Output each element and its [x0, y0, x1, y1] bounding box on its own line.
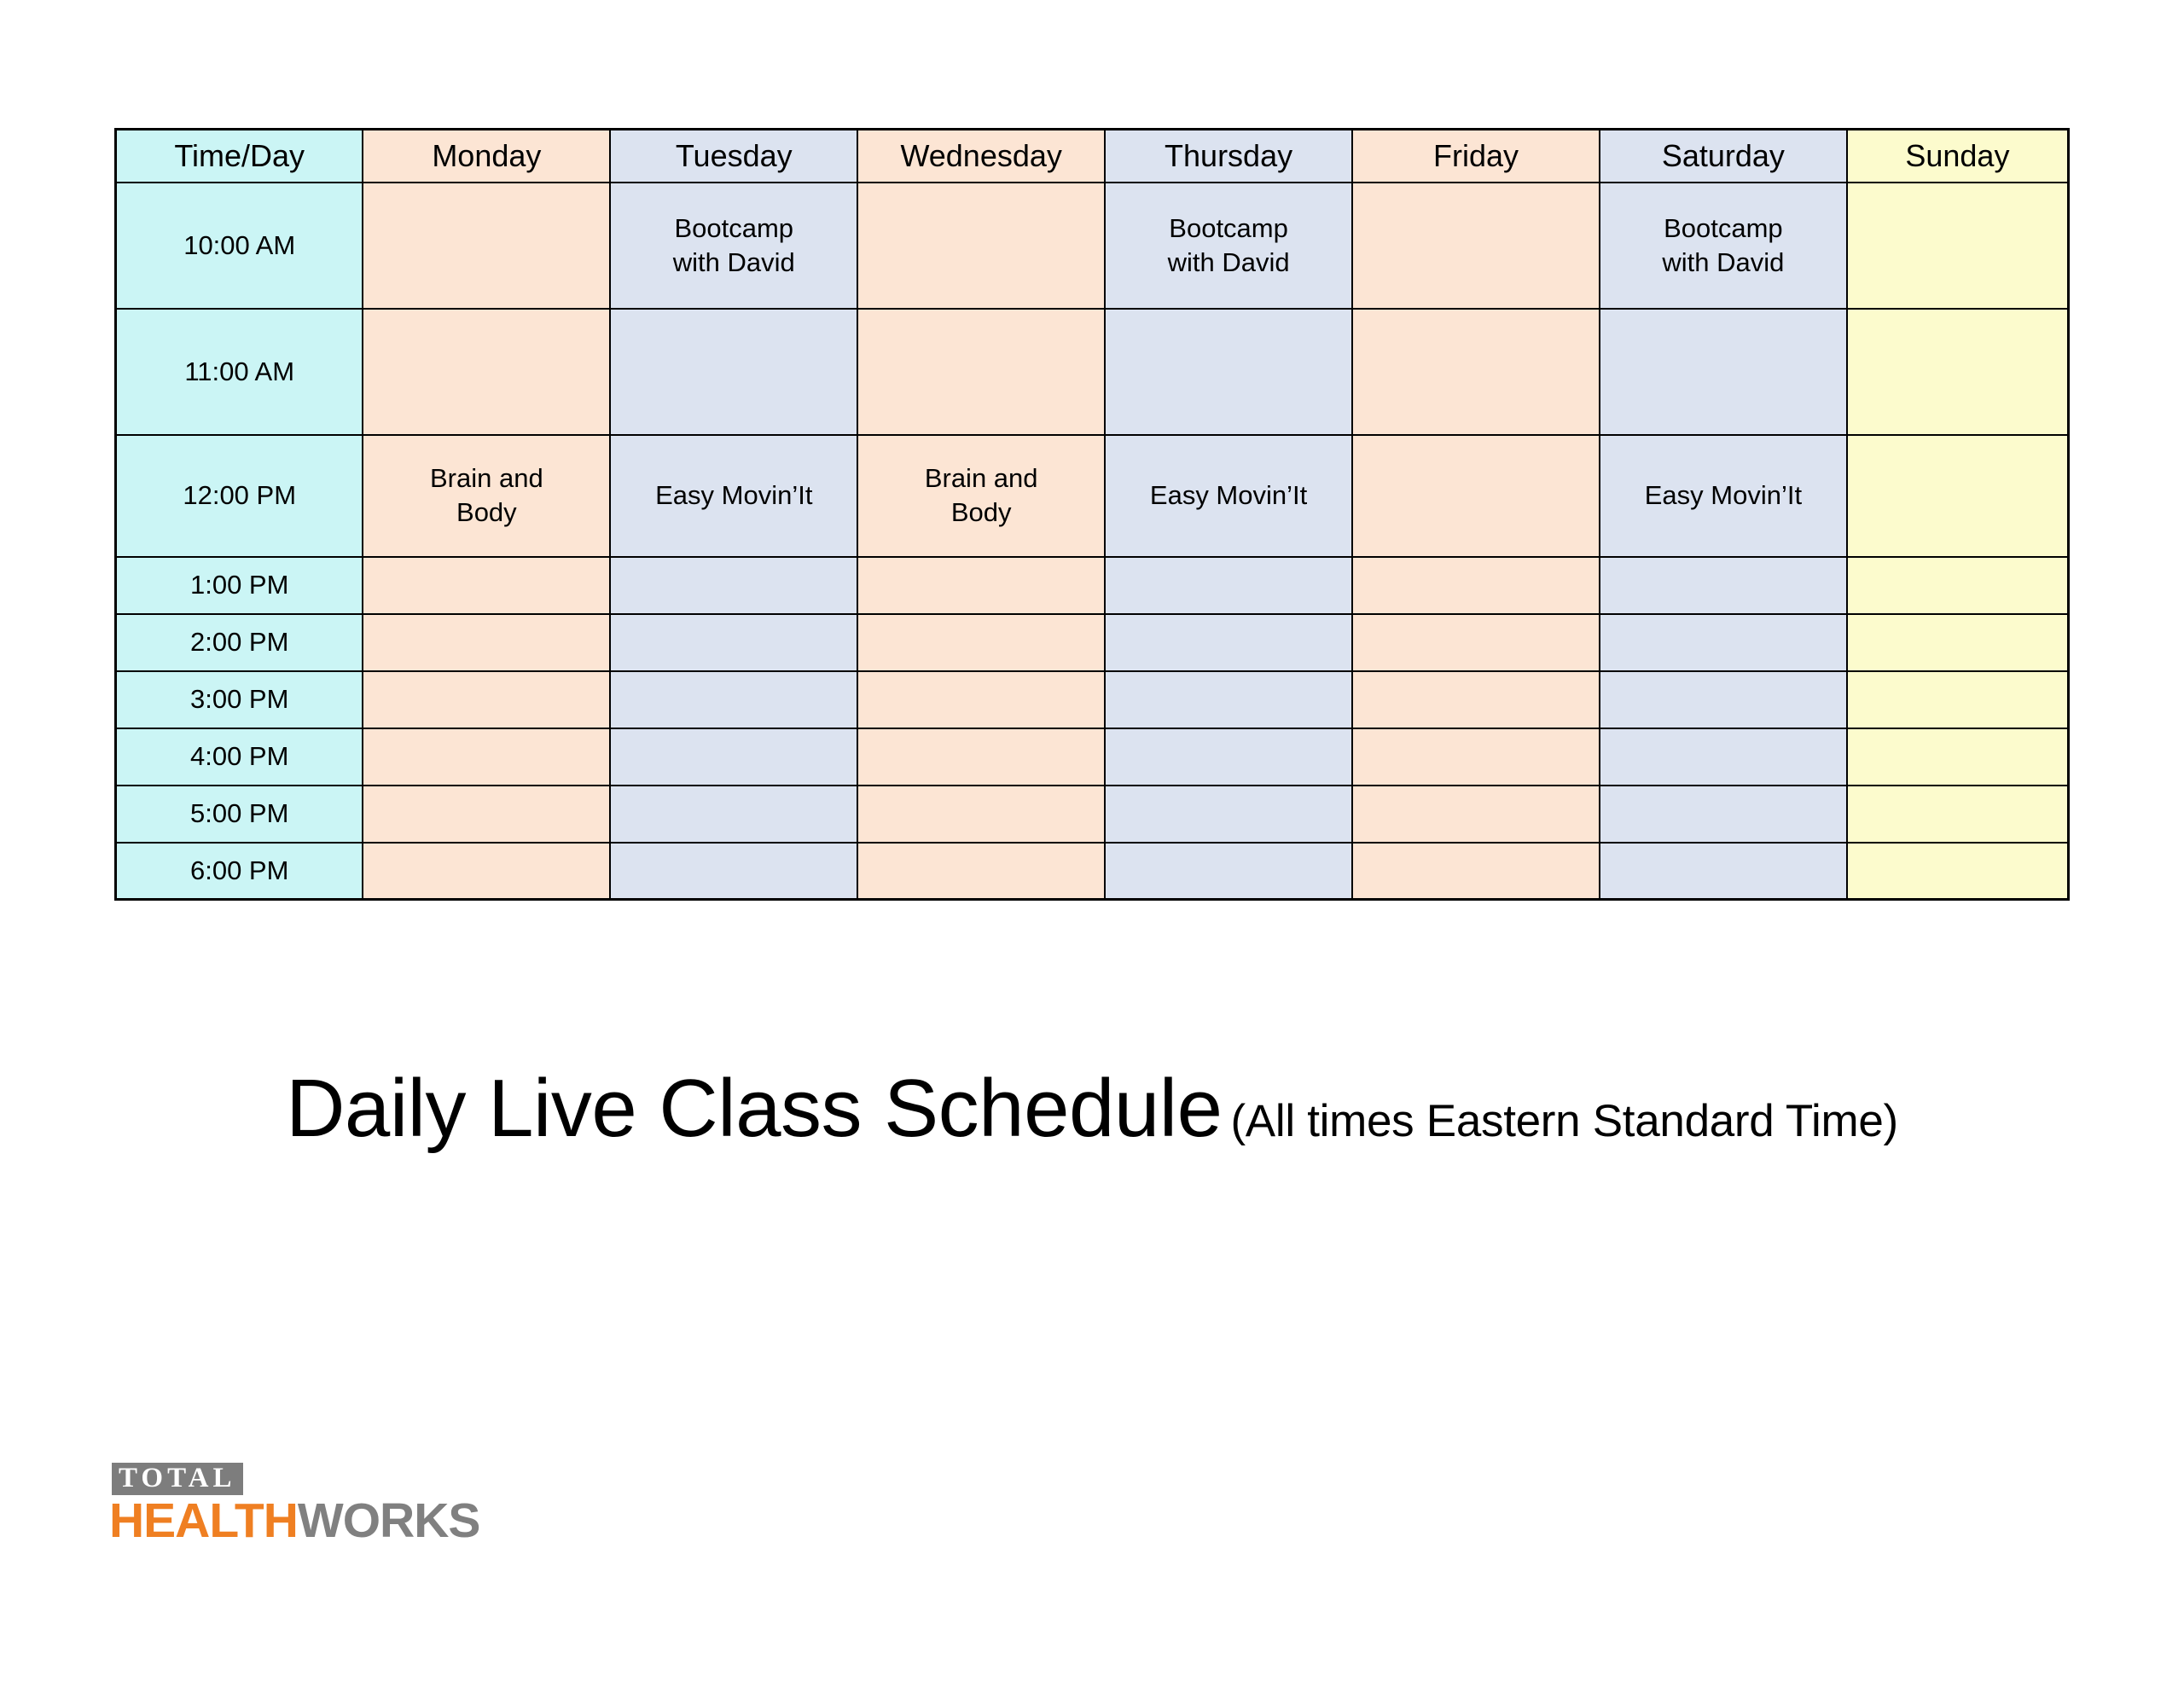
empty-cell-tuesday [610, 309, 857, 435]
class-cell-thursday[interactable]: Easy Movin’It [1105, 435, 1352, 557]
empty-cell-wednesday [857, 614, 1105, 671]
column-header-friday: Friday [1352, 130, 1600, 183]
empty-cell-wednesday [857, 843, 1105, 900]
time-label-cell: 1:00 PM [116, 557, 363, 614]
empty-cell-monday [363, 671, 610, 728]
logo-total-bar: TOTAL [112, 1463, 243, 1495]
logo-word-health: HEALTH [109, 1493, 298, 1548]
total-healthworks-logo: TOTAL HEALTHWORKS [109, 1463, 479, 1545]
empty-cell-wednesday [857, 786, 1105, 843]
logo-bottom-line: HEALTHWORKS [109, 1497, 479, 1545]
class-schedule-table: Time/DayMondayTuesdayWednesdayThursdayFr… [114, 128, 2070, 901]
empty-cell-wednesday [857, 728, 1105, 786]
column-header-thursday: Thursday [1105, 130, 1352, 183]
column-header-time: Time/Day [116, 130, 363, 183]
time-label-cell: 4:00 PM [116, 728, 363, 786]
class-cell-thursday[interactable]: Bootcamp with David [1105, 183, 1352, 309]
page-subtitle: (All times Eastern Standard Time) [1222, 1096, 1897, 1146]
page-title: Daily Live Class Schedule [286, 1063, 1222, 1154]
empty-cell-wednesday [857, 309, 1105, 435]
empty-cell-sunday [1847, 786, 2069, 843]
time-label-cell: 12:00 PM [116, 435, 363, 557]
empty-cell-sunday [1847, 183, 2069, 309]
class-cell-wednesday[interactable]: Brain and Body [857, 435, 1105, 557]
empty-cell-friday [1352, 614, 1600, 671]
class-cell-tuesday[interactable]: Bootcamp with David [610, 183, 857, 309]
table-row: 2:00 PM [116, 614, 2069, 671]
empty-cell-saturday [1600, 843, 1847, 900]
empty-cell-sunday [1847, 671, 2069, 728]
class-cell-saturday[interactable]: Bootcamp with David [1600, 183, 1847, 309]
empty-cell-wednesday [857, 671, 1105, 728]
empty-cell-friday [1352, 309, 1600, 435]
table-row: 3:00 PM [116, 671, 2069, 728]
time-label-cell: 6:00 PM [116, 843, 363, 900]
table-header-row: Time/DayMondayTuesdayWednesdayThursdayFr… [116, 130, 2069, 183]
table-row: 6:00 PM [116, 843, 2069, 900]
empty-cell-monday [363, 843, 610, 900]
empty-cell-monday [363, 183, 610, 309]
empty-cell-thursday [1105, 671, 1352, 728]
empty-cell-saturday [1600, 309, 1847, 435]
empty-cell-friday [1352, 671, 1600, 728]
empty-cell-thursday [1105, 309, 1352, 435]
table-row: 12:00 PMBrain and BodyEasy Movin’ItBrain… [116, 435, 2069, 557]
empty-cell-sunday [1847, 309, 2069, 435]
class-cell-saturday[interactable]: Easy Movin’It [1600, 435, 1847, 557]
table-row: 10:00 AMBootcamp with DavidBootcamp with… [116, 183, 2069, 309]
empty-cell-saturday [1600, 671, 1847, 728]
empty-cell-friday [1352, 843, 1600, 900]
empty-cell-sunday [1847, 614, 2069, 671]
empty-cell-friday [1352, 435, 1600, 557]
time-label-cell: 10:00 AM [116, 183, 363, 309]
column-header-monday: Monday [363, 130, 610, 183]
empty-cell-sunday [1847, 728, 2069, 786]
page-canvas: Time/DayMondayTuesdayWednesdayThursdayFr… [0, 0, 2184, 1693]
page-title-block: Daily Live Class Schedule(All times East… [0, 1062, 2184, 1156]
empty-cell-monday [363, 786, 610, 843]
column-header-tuesday: Tuesday [610, 130, 857, 183]
empty-cell-tuesday [610, 671, 857, 728]
table-row: 11:00 AM [116, 309, 2069, 435]
empty-cell-thursday [1105, 843, 1352, 900]
empty-cell-friday [1352, 786, 1600, 843]
empty-cell-thursday [1105, 557, 1352, 614]
time-label-cell: 11:00 AM [116, 309, 363, 435]
table-row: 1:00 PM [116, 557, 2069, 614]
class-cell-tuesday[interactable]: Easy Movin’It [610, 435, 857, 557]
column-header-sunday: Sunday [1847, 130, 2069, 183]
empty-cell-wednesday [857, 183, 1105, 309]
empty-cell-sunday [1847, 557, 2069, 614]
empty-cell-saturday [1600, 786, 1847, 843]
empty-cell-sunday [1847, 435, 2069, 557]
empty-cell-saturday [1600, 728, 1847, 786]
empty-cell-thursday [1105, 728, 1352, 786]
time-label-cell: 2:00 PM [116, 614, 363, 671]
empty-cell-monday [363, 728, 610, 786]
class-cell-monday[interactable]: Brain and Body [363, 435, 610, 557]
logo-word-total: TOTAL [119, 1464, 236, 1493]
empty-cell-monday [363, 557, 610, 614]
empty-cell-wednesday [857, 557, 1105, 614]
empty-cell-thursday [1105, 614, 1352, 671]
table-body: Time/DayMondayTuesdayWednesdayThursdayFr… [116, 130, 2069, 900]
empty-cell-sunday [1847, 843, 2069, 900]
time-label-cell: 5:00 PM [116, 786, 363, 843]
time-label-cell: 3:00 PM [116, 671, 363, 728]
empty-cell-saturday [1600, 614, 1847, 671]
empty-cell-tuesday [610, 786, 857, 843]
empty-cell-monday [363, 309, 610, 435]
empty-cell-monday [363, 614, 610, 671]
empty-cell-tuesday [610, 843, 857, 900]
empty-cell-saturday [1600, 557, 1847, 614]
empty-cell-tuesday [610, 728, 857, 786]
empty-cell-tuesday [610, 614, 857, 671]
class-schedule-table-container: Time/DayMondayTuesdayWednesdayThursdayFr… [114, 128, 2070, 901]
table-row: 4:00 PM [116, 728, 2069, 786]
table-row: 5:00 PM [116, 786, 2069, 843]
empty-cell-friday [1352, 183, 1600, 309]
column-header-wednesday: Wednesday [857, 130, 1105, 183]
column-header-saturday: Saturday [1600, 130, 1847, 183]
logo-word-works: WORKS [298, 1493, 479, 1548]
empty-cell-friday [1352, 557, 1600, 614]
empty-cell-friday [1352, 728, 1600, 786]
empty-cell-thursday [1105, 786, 1352, 843]
empty-cell-tuesday [610, 557, 857, 614]
